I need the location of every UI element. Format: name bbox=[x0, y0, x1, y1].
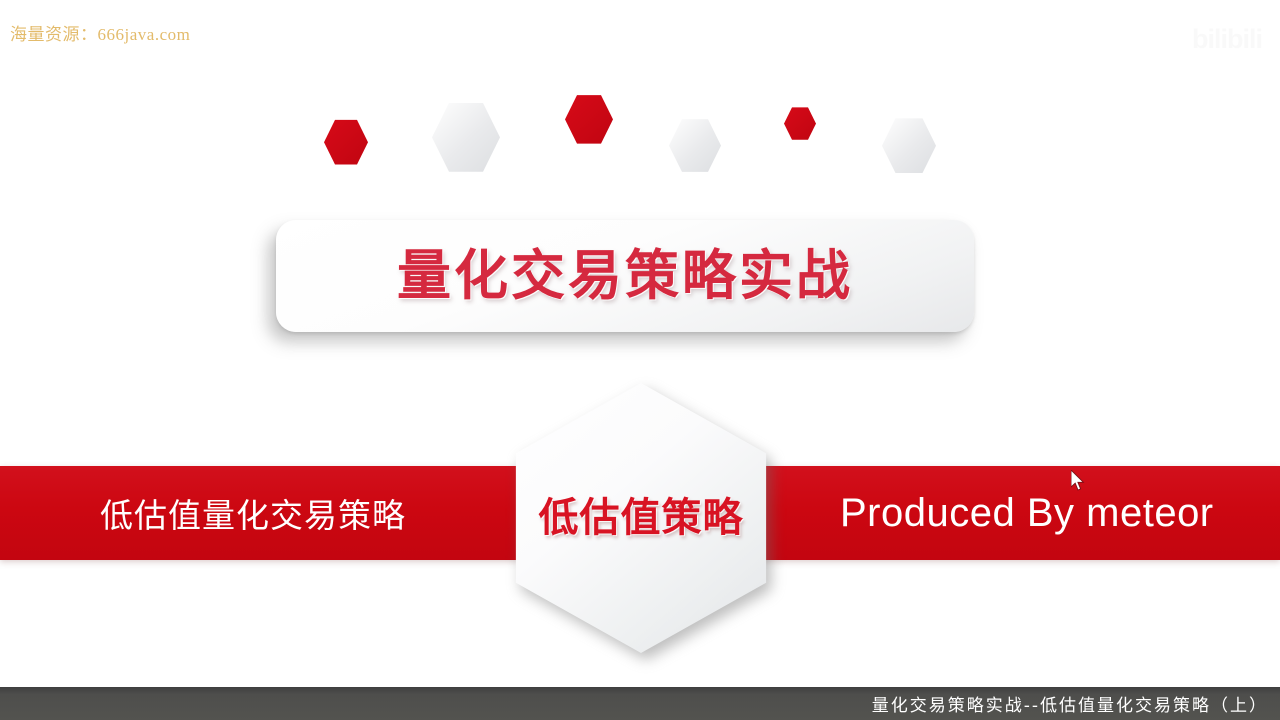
presentation-slide: 海量资源：666java.com bilibili 量化交易策略实战 低估值量化… bbox=[0, 0, 1280, 720]
hexagon-3-icon bbox=[565, 93, 613, 146]
title-plaque: 量化交易策略实战 bbox=[276, 220, 974, 332]
banner-subtitle-left: 低估值量化交易策略 bbox=[100, 466, 406, 560]
hexagon-6-icon bbox=[882, 116, 936, 175]
hexagon-shape: 低估值策略 bbox=[505, 383, 777, 653]
hexagon-2-icon bbox=[432, 100, 500, 175]
mouse-pointer-icon bbox=[1071, 470, 1085, 491]
hexagon-5-icon bbox=[784, 106, 816, 141]
decorative-hexagon-row bbox=[0, 0, 1280, 200]
caption-bar: 量化交易策略实战--低估值量化交易策略（上） bbox=[0, 687, 1280, 720]
banner-author-right: Produced By meteor bbox=[840, 466, 1214, 560]
hexagon-1-icon bbox=[324, 118, 368, 166]
caption-text: 量化交易策略实战--低估值量化交易策略（上） bbox=[872, 691, 1280, 716]
hexagon-4-icon bbox=[669, 117, 721, 174]
page-title: 量化交易策略实战 bbox=[397, 249, 853, 303]
center-hexagon-badge: 低估值策略 bbox=[505, 383, 777, 653]
badge-label: 低估值策略 bbox=[539, 498, 744, 538]
